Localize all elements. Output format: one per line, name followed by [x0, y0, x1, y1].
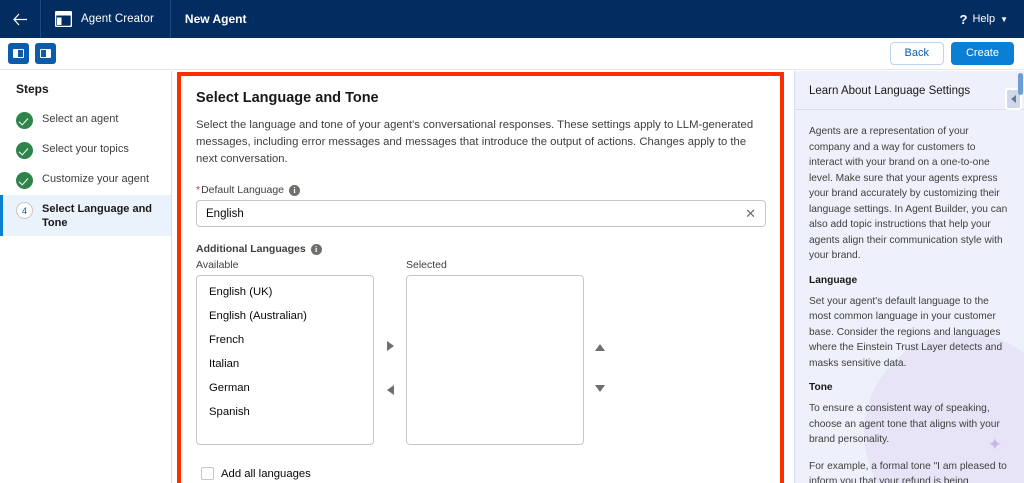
create-button[interactable]: Create — [951, 42, 1014, 65]
sidebar-item-select-an-agent[interactable]: Select an agent — [0, 105, 171, 135]
default-language-label: Default Language — [201, 184, 284, 196]
step-label: Select an agent — [42, 111, 118, 126]
available-header: Available — [196, 259, 374, 271]
scrollbar-thumb[interactable] — [1018, 73, 1023, 95]
triangle-up-icon[interactable] — [595, 344, 605, 351]
info-icon[interactable]: i — [311, 244, 322, 255]
triangle-left-icon[interactable] — [387, 385, 394, 395]
help-panel: Learn About Language Settings Agents are… — [794, 71, 1024, 483]
additional-languages-label-row: Additional Languages i — [196, 243, 764, 255]
additional-languages-label: Additional Languages — [196, 243, 306, 255]
panel-right-toggle-icon — [40, 49, 51, 58]
main-form-panel: Select Language and Tone Select the lang… — [172, 71, 794, 483]
steps-title: Steps — [0, 82, 171, 105]
back-arrow-icon[interactable] — [0, 0, 40, 38]
check-circle-icon — [16, 142, 33, 159]
step-number-badge: 4 — [16, 202, 33, 219]
available-column: Available English (UK) English (Australi… — [196, 259, 374, 445]
form-content: Select Language and Tone Select the lang… — [172, 71, 794, 483]
panel-left-toggle-button[interactable] — [8, 43, 29, 64]
page-title: Select Language and Tone — [196, 90, 764, 106]
sidebar-item-select-language-and-tone[interactable]: 4 Select Language and Tone — [0, 195, 171, 236]
dual-listbox: Available English (UK) English (Australi… — [196, 259, 764, 455]
help-paragraph: Agents are a representation of your comp… — [809, 124, 1008, 264]
help-heading-tone: Tone — [809, 382, 1008, 393]
help-panel-title: Learn About Language Settings — [795, 71, 1024, 110]
check-circle-icon — [16, 172, 33, 189]
chevron-left-icon — [1011, 95, 1016, 103]
panel-left-toggle-icon — [13, 49, 24, 58]
steps-sidebar: Steps Select an agent Select your topics… — [0, 71, 172, 483]
list-item[interactable]: French — [197, 328, 373, 352]
sub-toolbar: Back Create — [0, 38, 1024, 70]
help-menu[interactable]: ? Help ▼ — [960, 12, 1024, 27]
chevron-down-icon: ▼ — [1000, 15, 1008, 24]
help-heading-language: Language — [809, 275, 1008, 286]
help-panel-scrollbar[interactable] — [1017, 71, 1024, 483]
help-paragraph: For example, a formal tone "I am pleased… — [809, 459, 1008, 483]
step-label: Select Language and Tone — [42, 201, 163, 230]
list-item[interactable]: Spanish — [197, 400, 373, 424]
add-all-languages-checkbox[interactable] — [201, 467, 214, 480]
add-all-languages-row[interactable]: Add all languages — [201, 467, 764, 480]
list-item[interactable]: German — [197, 376, 373, 400]
page-description: Select the language and tone of your age… — [196, 117, 764, 168]
selected-column: Selected — [406, 259, 584, 445]
help-panel-body: Agents are a representation of your comp… — [795, 110, 1024, 483]
check-circle-icon — [16, 112, 33, 129]
record-title: New Agent — [171, 12, 247, 26]
body-area: Steps Select an agent Select your topics… — [0, 71, 1024, 483]
available-listbox[interactable]: English (UK) English (Australian) French… — [196, 275, 374, 445]
move-buttons-column — [374, 259, 406, 455]
triangle-down-icon[interactable] — [595, 385, 605, 392]
triangle-right-icon[interactable] — [387, 341, 394, 351]
default-language-value: English — [206, 208, 244, 220]
help-paragraph: Set your agent's default language to the… — [809, 294, 1008, 372]
default-language-label-row: * Default Language i — [196, 184, 764, 196]
app-launcher[interactable]: Agent Creator — [41, 0, 170, 38]
sparkle-decoration-icon: ✦ — [988, 435, 1002, 455]
list-item[interactable]: English (UK) — [197, 280, 373, 304]
question-mark-icon: ? — [960, 12, 968, 27]
required-marker: * — [196, 184, 200, 196]
panel-right-toggle-button[interactable] — [35, 43, 56, 64]
close-icon[interactable]: ✕ — [745, 207, 756, 220]
reorder-buttons-column — [584, 259, 616, 455]
step-label: Customize your agent — [42, 171, 149, 186]
default-language-input[interactable]: English ✕ — [196, 200, 766, 227]
help-paragraph: To ensure a consistent way of speaking, … — [809, 401, 1008, 448]
step-label: Select your topics — [42, 141, 129, 156]
arrow-left-icon — [13, 13, 28, 26]
list-item[interactable]: Italian — [197, 352, 373, 376]
global-header: Agent Creator New Agent ? Help ▼ — [0, 0, 1024, 38]
selected-listbox[interactable] — [406, 275, 584, 445]
app-layout-icon — [55, 11, 72, 27]
selected-header: Selected — [406, 259, 584, 271]
help-label: Help — [972, 13, 995, 25]
app-name: Agent Creator — [81, 13, 154, 25]
back-button[interactable]: Back — [890, 42, 944, 65]
info-icon[interactable]: i — [289, 185, 300, 196]
add-all-languages-label: Add all languages — [221, 468, 311, 480]
sidebar-item-select-your-topics[interactable]: Select your topics — [0, 135, 171, 165]
sidebar-item-customize-your-agent[interactable]: Customize your agent — [0, 165, 171, 195]
list-item[interactable]: English (Australian) — [197, 304, 373, 328]
